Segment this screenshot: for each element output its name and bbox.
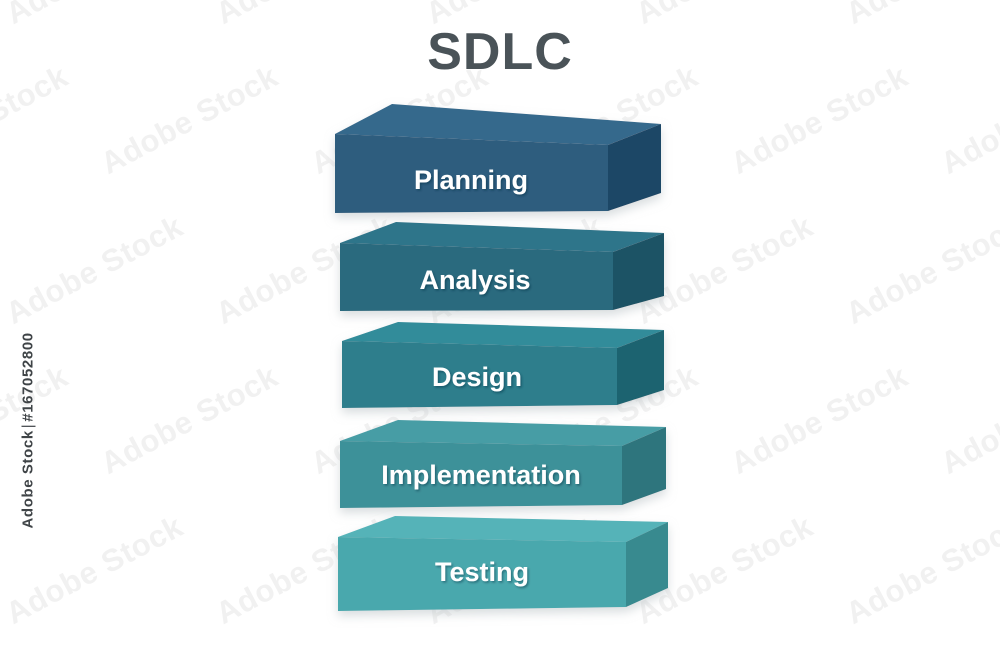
sdlc-block-stack: Planning Analysis Design Impl bbox=[0, 0, 1000, 667]
stack-svg: Planning Analysis Design Impl bbox=[0, 0, 1000, 667]
block-design-label: Design bbox=[432, 362, 522, 392]
caption-separator: | bbox=[20, 422, 37, 431]
image-canvas: Adobe StockAdobe StockAdobe StockAdobe S… bbox=[0, 0, 1000, 667]
block-planning-label: Planning bbox=[414, 165, 528, 195]
stock-brand-label: Adobe Stock bbox=[20, 430, 37, 528]
block-implementation-label: Implementation bbox=[381, 460, 581, 490]
block-testing[interactable]: Testing bbox=[338, 516, 668, 611]
block-analysis[interactable]: Analysis bbox=[340, 222, 664, 311]
block-planning[interactable]: Planning bbox=[335, 104, 661, 213]
block-design[interactable]: Design bbox=[342, 322, 664, 408]
stock-id-label: #167052800 bbox=[20, 332, 37, 421]
block-implementation[interactable]: Implementation bbox=[340, 420, 666, 508]
block-analysis-label: Analysis bbox=[419, 265, 530, 295]
page-title: SDLC bbox=[0, 22, 1000, 82]
stock-id-caption: Adobe Stock|#167052800 bbox=[20, 289, 37, 529]
block-testing-label: Testing bbox=[435, 557, 529, 587]
